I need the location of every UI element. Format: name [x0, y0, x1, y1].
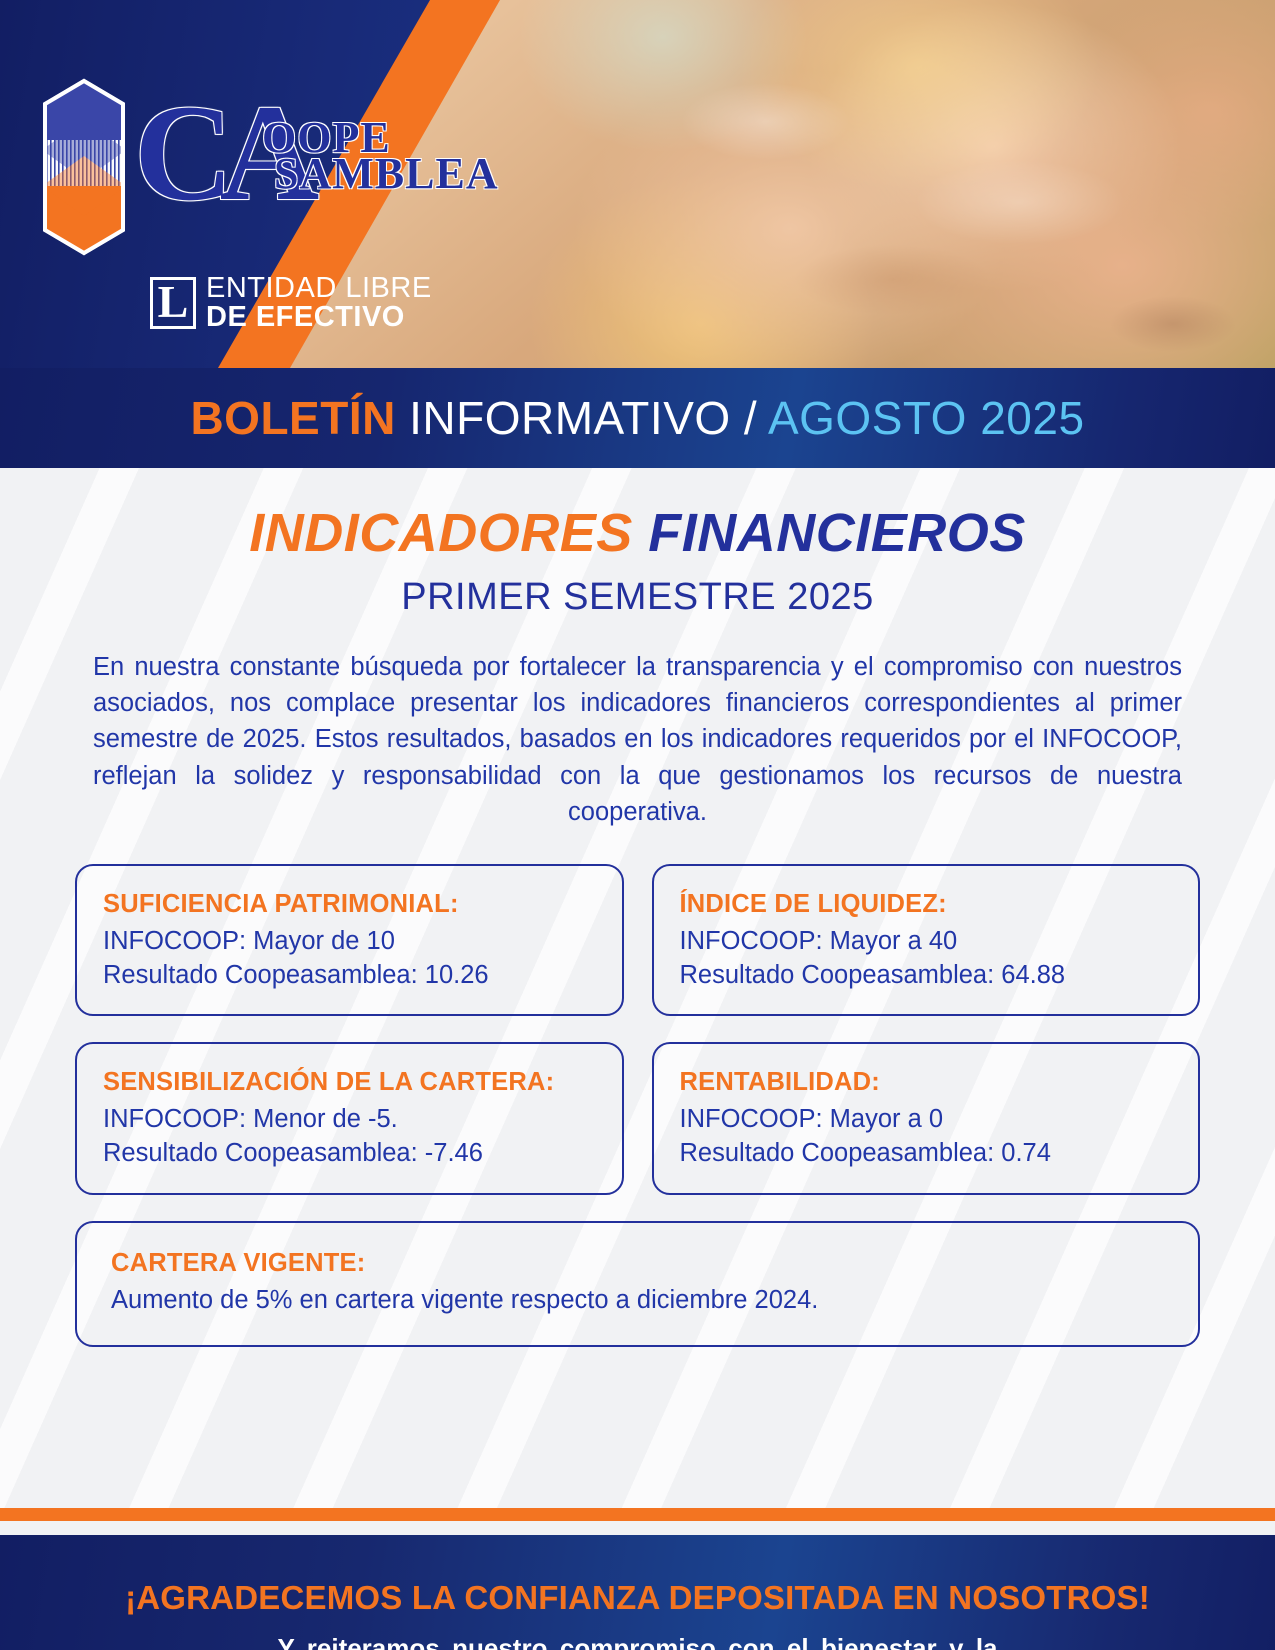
newsletter-page: CA OOPE SAMBLEA L ENTIDAD LIBRE DE EFECT…	[0, 0, 1275, 1650]
card-suficiencia-patrimonial: SUFICIENCIA PATRIMONIAL: INFOCOOP: Mayor…	[75, 864, 624, 1016]
page-title: INDICADORES FINANCIEROS	[75, 506, 1200, 560]
card-row-1: SUFICIENCIA PATRIMONIAL: INFOCOOP: Mayor…	[75, 864, 1200, 1016]
card-row-2: SENSIBILIZACIÓN DE LA CARTERA: INFOCOOP:…	[75, 1042, 1200, 1194]
card-row-3: CARTERA VIGENTE: Aumento de 5% en carter…	[75, 1221, 1200, 1348]
footer-banner: ¡AGRADECEMOS LA CONFIANZA DEPOSITADA EN …	[0, 1535, 1275, 1650]
card-infocoop-line: INFOCOOP: Menor de -5.	[103, 1103, 596, 1137]
intro-paragraph: En nuestra constante búsqueda por fortal…	[93, 649, 1182, 830]
main-content: INDICADORES FINANCIEROS PRIMER SEMESTRE …	[0, 468, 1275, 1508]
card-result-line: Resultado Coopeasamblea: -7.46	[103, 1137, 596, 1171]
card-cartera-vigente: CARTERA VIGENTE: Aumento de 5% en carter…	[75, 1221, 1200, 1348]
card-sensibilizacion-de-la-cartera: SENSIBILIZACIÓN DE LA CARTERA: INFOCOOP:…	[75, 1042, 624, 1194]
card-indice-de-liquidez: ÍNDICE DE LIQUIDEZ: INFOCOOP: Mayor a 40…	[652, 864, 1201, 1016]
wordmark: CA OOPE SAMBLEA	[134, 90, 434, 220]
page-title-indicadores: INDICADORES	[249, 503, 633, 563]
card-result-line: Resultado Coopeasamblea: 10.26	[103, 959, 596, 993]
card-title: ÍNDICE DE LIQUIDEZ:	[680, 890, 1173, 919]
card-title: SENSIBILIZACIÓN DE LA CARTERA:	[103, 1068, 596, 1097]
card-title: SUFICIENCIA PATRIMONIAL:	[103, 890, 596, 919]
card-result-line: Resultado Coopeasamblea: 0.74	[680, 1137, 1173, 1171]
white-divider	[0, 1521, 1275, 1535]
indicator-cards: SUFICIENCIA PATRIMONIAL: INFOCOOP: Mayor…	[75, 864, 1200, 1347]
badge-line-2: DE EFECTIVO	[206, 303, 432, 332]
bulletin-banner-text: BOLETÍN INFORMATIVO / AGOSTO 2025	[190, 391, 1084, 445]
footer-subline: Y reiteramos nuestro compromiso con el b…	[278, 1631, 998, 1650]
card-result-line: Resultado Coopeasamblea: 64.88	[680, 959, 1173, 993]
card-title: RENTABILIDAD:	[680, 1068, 1173, 1097]
card-rentabilidad: RENTABILIDAD: INFOCOOP: Mayor a 0 Result…	[652, 1042, 1201, 1194]
card-title: CARTERA VIGENTE:	[111, 1249, 1164, 1278]
badge-line-1: ENTIDAD LIBRE	[206, 274, 432, 303]
page-title-financieros: FINANCIEROS	[633, 503, 1026, 563]
badge-letter-l-icon: L	[150, 277, 196, 329]
orange-divider	[0, 1508, 1275, 1521]
brand-logo: CA OOPE SAMBLEA L ENTIDAD LIBRE DE EFECT…	[42, 78, 462, 256]
card-detail-line: Aumento de 5% en cartera vigente respect…	[111, 1284, 1164, 1318]
card-infocoop-line: INFOCOOP: Mayor de 10	[103, 925, 596, 959]
page-subtitle: PRIMER SEMESTRE 2025	[75, 576, 1200, 619]
card-infocoop-line: INFOCOOP: Mayor a 0	[680, 1103, 1173, 1137]
entidad-libre-badge: L ENTIDAD LIBRE DE EFECTIVO	[150, 274, 432, 332]
bulletin-banner: BOLETÍN INFORMATIVO / AGOSTO 2025	[0, 368, 1275, 468]
banner-informativo-label: INFORMATIVO /	[396, 392, 768, 444]
footer-headline: ¡AGRADECEMOS LA CONFIANZA DEPOSITADA EN …	[0, 1535, 1275, 1617]
wordmark-samblea: SAMBLEA	[274, 148, 499, 199]
banner-date-label: AGOSTO 2025	[768, 392, 1085, 444]
hexagon-mark-icon	[42, 78, 126, 256]
header-banner: CA OOPE SAMBLEA L ENTIDAD LIBRE DE EFECT…	[0, 0, 1275, 368]
card-infocoop-line: INFOCOOP: Mayor a 40	[680, 925, 1173, 959]
banner-boletin-label: BOLETÍN	[190, 392, 395, 444]
